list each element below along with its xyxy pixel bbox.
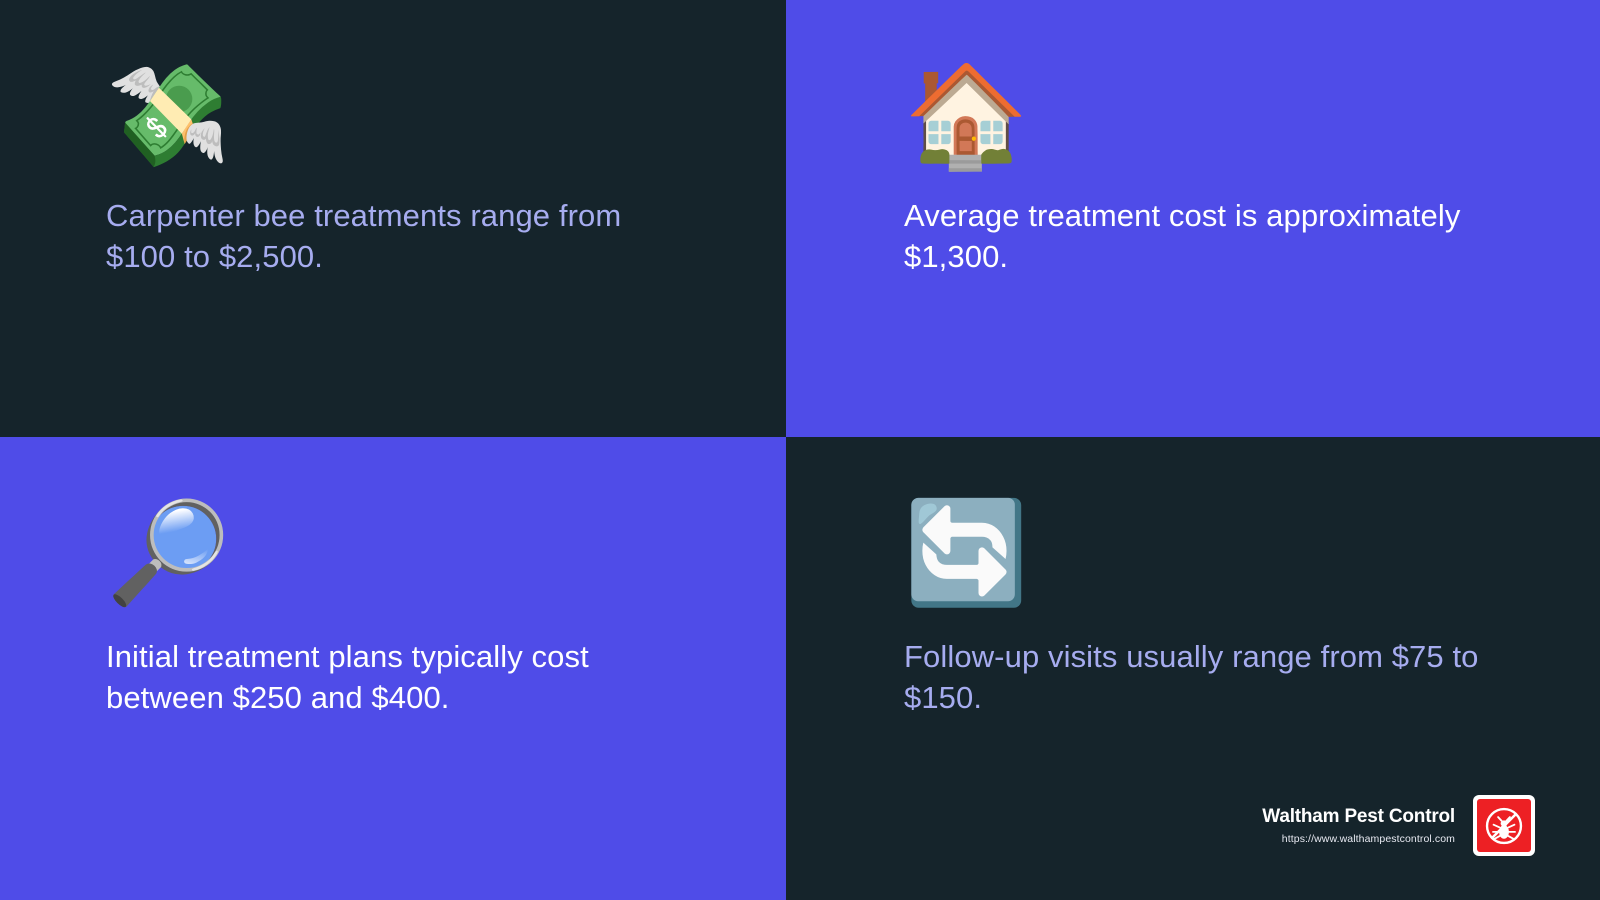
branding-text: Waltham Pest Control https://www.waltham… [1262,806,1455,845]
stat-card-bottom-right: 🔄 Follow-up visits usually range from $7… [786,437,1600,900]
magnifying-glass-icon: 🔎 [106,499,214,607]
refresh-arrows-icon: 🔄 [904,499,1012,607]
stat-text-bottom-left: Initial treatment plans typically cost b… [106,637,666,719]
stat-card-top-left: 💸 Carpenter bee treatments range from $1… [0,0,786,437]
house-icon: 🏠 [904,62,1012,170]
stat-card-bottom-left: 🔎 Initial treatment plans typically cost… [0,437,786,900]
branding: Waltham Pest Control https://www.waltham… [1262,795,1535,856]
stat-card-top-right: 🏠 Average treatment cost is approximatel… [786,0,1600,437]
infographic-canvas: 💸 Carpenter bee treatments range from $1… [0,0,1600,900]
company-url[interactable]: https://www.walthampestcontrol.com [1282,833,1455,845]
badge-background [1477,799,1531,852]
stat-text-top-left: Carpenter bee treatments range from $100… [106,196,666,278]
stat-text-top-right: Average treatment cost is approximately … [904,196,1484,278]
no-pest-badge-icon [1473,795,1535,856]
money-with-wings-icon: 💸 [106,62,214,170]
stat-text-bottom-right: Follow-up visits usually range from $75 … [904,637,1484,719]
company-name: Waltham Pest Control [1262,806,1455,828]
